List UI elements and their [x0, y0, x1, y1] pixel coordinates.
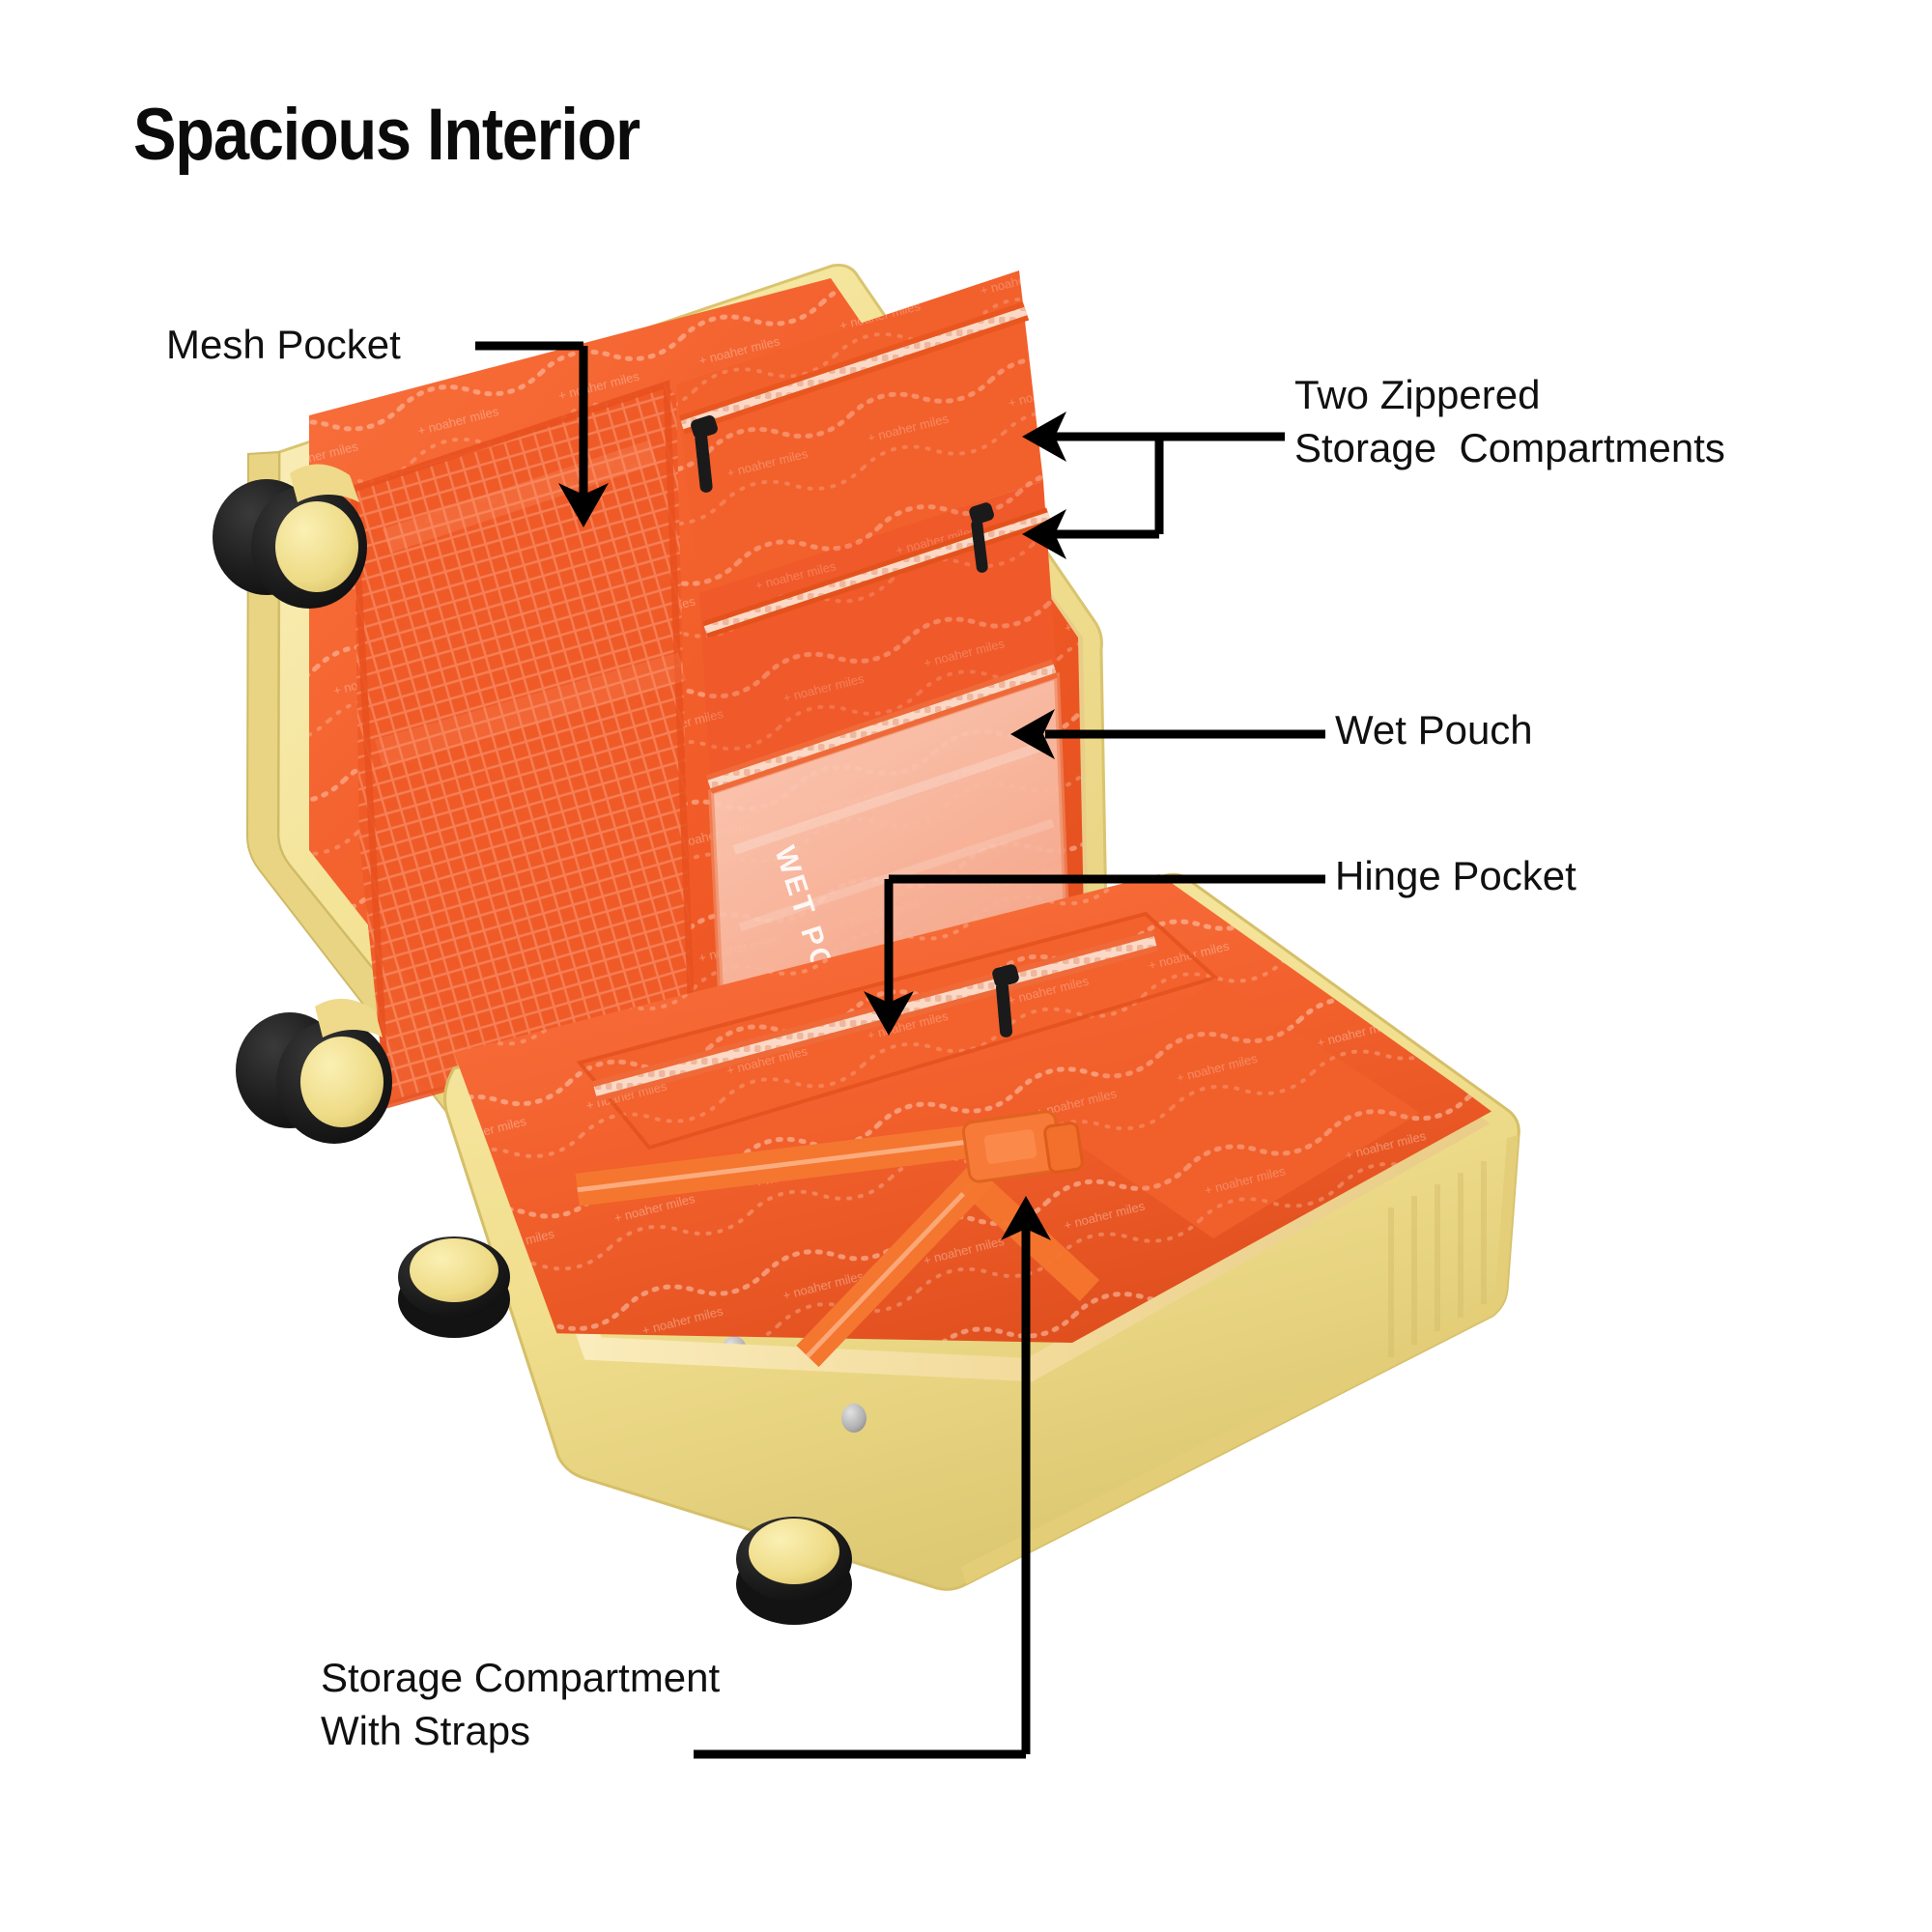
callout-label-hinge-pocket: Hinge Pocket	[1335, 850, 1577, 903]
callout-line-1: Two Zippered	[1294, 372, 1540, 417]
callout-label-storage-compartment-with-straps: Storage CompartmentWith Straps	[321, 1652, 720, 1757]
callout-line-2: With Straps	[321, 1708, 530, 1753]
infographic-canvas: Spacious Interior	[0, 0, 1932, 1932]
callout-label-mesh-pocket: Mesh Pocket	[166, 319, 401, 372]
mesh-pocket	[354, 384, 692, 1105]
wheel-upper-left	[213, 464, 367, 609]
wheel-lower-left	[236, 999, 392, 1144]
wheel-base-left	[398, 1236, 510, 1338]
wheel-base-front	[736, 1517, 852, 1625]
suitcase-illustration: + noaher miles	[0, 0, 1932, 1932]
callout-line-1: Storage Compartment	[321, 1655, 720, 1700]
callout-label-wet-pouch: Wet Pouch	[1335, 704, 1533, 757]
callout-label-two-zippered-storage-compartments: Two ZipperedStorage Compartments	[1294, 369, 1725, 474]
callout-line-2: Storage Compartments	[1294, 425, 1725, 470]
